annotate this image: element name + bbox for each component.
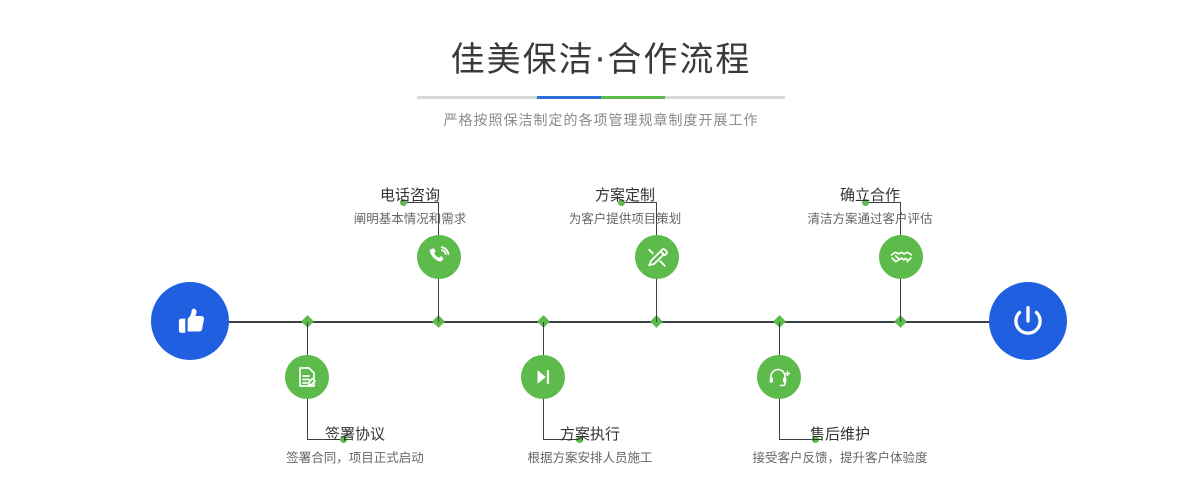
pen-tools-icon (645, 245, 670, 270)
play-forward-icon (532, 366, 554, 388)
step-title: 确立合作 (710, 186, 1030, 206)
flow-diagram: 佳美保洁·合作流程 严格按照保洁制定的各项管理规章制度开展工作 (0, 0, 1202, 502)
thumbs-up-icon (171, 302, 209, 340)
page-subtitle: 严格按照保洁制定的各项管理规章制度开展工作 (0, 106, 1202, 134)
headset-support-icon (767, 365, 791, 389)
handshake-icon (889, 245, 914, 270)
step-desc: 清洁方案通过客户评估 (710, 209, 1030, 229)
divider-segment-blue (537, 96, 601, 99)
step-icon-phone-consult (417, 235, 461, 279)
phone-ring-icon (427, 245, 451, 269)
step-label-after-sales: 售后维护 接受客户反馈，提升客户体验度 (670, 425, 1010, 468)
start-node (151, 282, 229, 360)
step-label-confirm-cooperation: 确立合作 清洁方案通过客户评估 (710, 186, 1030, 229)
power-icon (1008, 301, 1048, 341)
step-desc: 接受客户反馈，提升客户体验度 (670, 448, 1010, 468)
title-divider (417, 96, 785, 99)
document-edit-icon (295, 365, 319, 389)
page-title: 佳美保洁·合作流程 (0, 38, 1202, 82)
step-title: 售后维护 (670, 425, 1010, 445)
step-icon-plan-customize (635, 235, 679, 279)
end-node (989, 282, 1067, 360)
divider-segment-green (601, 96, 665, 99)
step-icon-sign-agreement (285, 355, 329, 399)
step-icon-after-sales (757, 355, 801, 399)
step-icon-confirm-cooperation (879, 235, 923, 279)
step-icon-plan-execute (521, 355, 565, 399)
